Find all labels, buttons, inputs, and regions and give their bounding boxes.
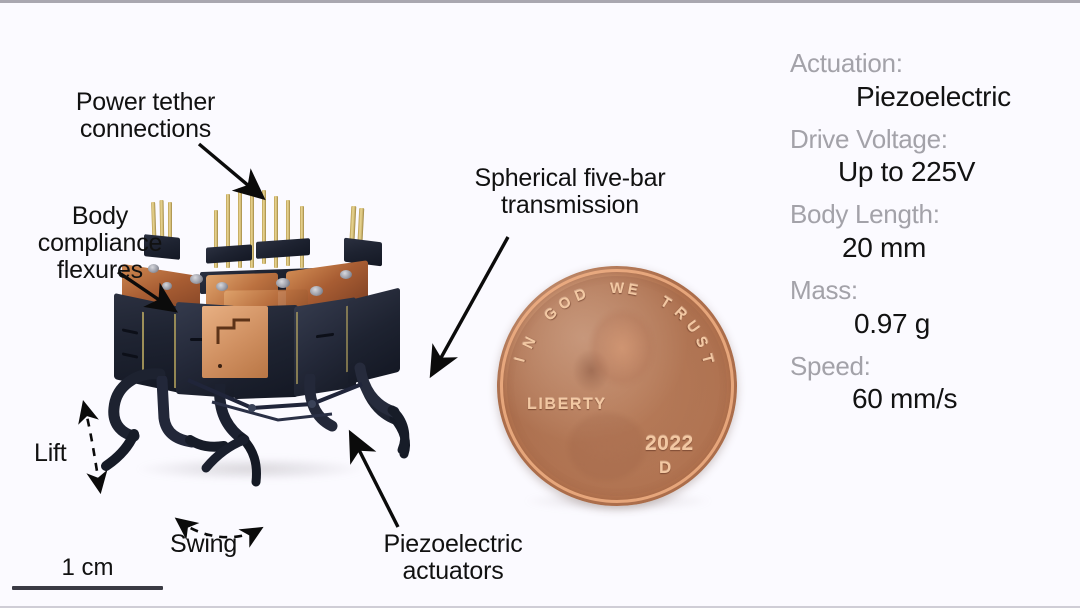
spec-mass: Mass: 0.97 g — [790, 275, 1070, 340]
spec-drive-voltage: Drive Voltage: Up to 225V — [790, 124, 1070, 189]
spec-body-length: Body Length: 20 mm — [790, 199, 1070, 264]
solder-joint — [276, 278, 290, 288]
coin-rim — [500, 269, 734, 503]
solder-joint — [310, 286, 323, 296]
spec-value-actuation: Piezoelectric — [790, 80, 1070, 113]
pcb-via — [218, 364, 222, 368]
tether-pin — [300, 206, 304, 268]
pcb-trace — [212, 314, 256, 354]
spec-label-drive-voltage: Drive Voltage: — [790, 124, 1070, 155]
us-penny-coin: IN GOD WE TRUST LIBERTY 2022 D — [497, 266, 737, 506]
scale-bar-label: 1 cm — [12, 556, 163, 580]
spec-value-mass: 0.97 g — [790, 307, 1070, 340]
spec-speed: Speed: 60 mm/s — [790, 351, 1070, 416]
label-swing: Swing — [170, 531, 237, 558]
spec-label-actuation: Actuation: — [790, 48, 1070, 79]
solder-joint — [216, 282, 228, 291]
spec-label-speed: Speed: — [790, 351, 1070, 382]
label-spherical-five-bar: Spherical five-bar transmission — [450, 165, 690, 219]
spec-actuation: Actuation: Piezoelectric — [790, 48, 1070, 113]
spec-value-drive-voltage: Up to 225V — [790, 155, 1070, 188]
solder-joint — [190, 274, 203, 284]
label-lift: Lift — [34, 440, 67, 467]
figure-canvas: IN GOD WE TRUST LIBERTY 2022 D — [0, 0, 1080, 608]
label-power-tether-connections: Power tether connections — [38, 89, 253, 143]
spec-value-speed: 60 mm/s — [790, 382, 1070, 415]
five-bar-transmission-linkage — [182, 374, 372, 444]
specification-panel: Actuation: Piezoelectric Drive Voltage: … — [790, 48, 1070, 427]
spec-value-body-length: 20 mm — [790, 231, 1070, 264]
label-body-compliance-flexures: Body compliance flexures — [10, 203, 190, 284]
spec-label-mass: Mass: — [790, 275, 1070, 306]
connector-block — [206, 244, 252, 263]
spec-label-body-length: Body Length: — [790, 199, 1070, 230]
scale-bar-group: 1 cm — [12, 556, 167, 590]
label-piezoelectric-actuators: Piezoelectric actuators — [338, 531, 568, 585]
scale-bar-line — [12, 586, 163, 590]
solder-joint — [340, 270, 352, 279]
